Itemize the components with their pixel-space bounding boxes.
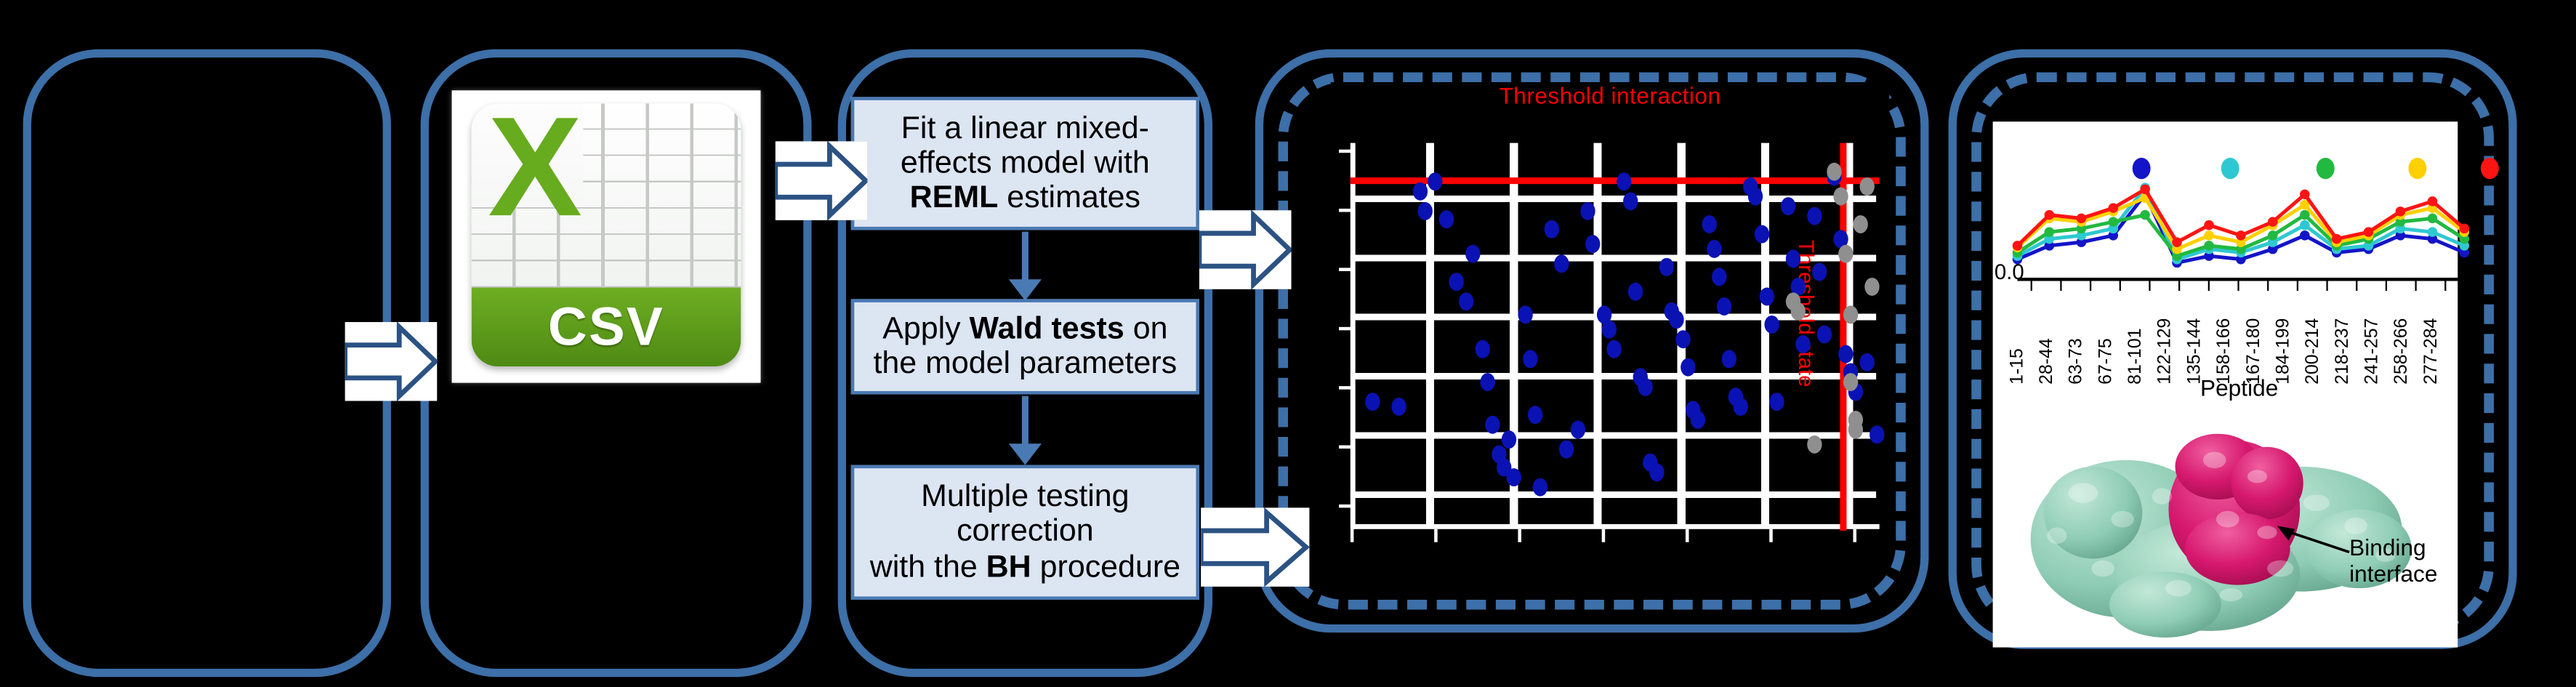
peptide-tick — [2178, 281, 2180, 291]
arrow-input-to-csv — [345, 322, 438, 401]
peptide-tick — [2031, 281, 2032, 291]
line-series-marker — [2300, 220, 2310, 230]
legend-marker — [2408, 158, 2426, 179]
line-series-marker — [2045, 210, 2055, 220]
peptide-tick-labels: 1-1528-4463-7367-7581-101122-129135-1441… — [2018, 283, 2461, 385]
binding-annot-line1: Binding — [2349, 536, 2490, 561]
scatter-y-tick — [1339, 386, 1352, 390]
line-series-marker — [2428, 196, 2438, 206]
scatter-point — [1554, 254, 1569, 272]
step3-line1: Multiple testing — [921, 480, 1129, 514]
step-box-bh[interactable]: Multiple testing correction with the BH … — [851, 465, 1199, 600]
line-series-marker — [2396, 206, 2406, 217]
scatter-x-tick — [1602, 529, 1606, 542]
line-series-marker — [2268, 217, 2278, 227]
scatter-point — [1681, 358, 1695, 377]
scatter-point — [1622, 192, 1637, 210]
scatter-point — [1817, 326, 1832, 344]
scatter-point — [1812, 263, 1827, 281]
scatter-point — [1649, 464, 1663, 482]
step2-line2: the model parameters — [873, 347, 1177, 381]
line-series-marker — [2268, 230, 2278, 241]
scatter-point — [1606, 340, 1621, 358]
scatter-point — [1864, 278, 1879, 296]
figure-canvas: X CSV Fit a linear mixed- effects model … — [0, 0, 2576, 687]
scatter-x-tick — [1518, 529, 1521, 542]
step1-bold-reml: REML — [910, 181, 999, 215]
line-series-marker — [2300, 190, 2310, 200]
scatter-point — [1707, 240, 1721, 258]
scatter-y-tick — [1339, 209, 1352, 212]
csv-card: X CSV — [472, 103, 741, 366]
scatter-y-tick — [1339, 505, 1352, 508]
scatter-point — [1869, 425, 1884, 443]
peptide-tick — [2237, 281, 2239, 291]
peptide-tick — [2444, 281, 2446, 291]
step2-suffix: on — [1124, 312, 1168, 346]
scatter-y-tick — [1339, 150, 1352, 153]
legend-marker — [2133, 158, 2151, 179]
step3-line3a: with the — [870, 550, 986, 584]
scatter-point — [1806, 435, 1821, 453]
peptide-tick — [2267, 281, 2269, 291]
line-series-marker — [2204, 230, 2214, 241]
scatter-point — [1791, 302, 1806, 320]
step-box-reml[interactable]: Fit a linear mixed- effects model with R… — [851, 97, 1199, 230]
scatter-point — [1502, 430, 1516, 449]
line-series-marker — [2204, 220, 2214, 230]
peptide-tick — [2386, 281, 2387, 291]
step1-line1: Fit a linear mixed- — [901, 111, 1149, 145]
scatter-point — [1417, 201, 1432, 220]
legend-marker — [2221, 158, 2239, 179]
line-series-marker — [2204, 241, 2214, 251]
peptide-axis-baseline — [2018, 278, 2465, 281]
step1-line2: effects model with — [901, 146, 1150, 180]
arrow-stats-to-scatter — [1199, 210, 1292, 289]
scatter-plot-title: Threshold interaction — [1331, 82, 1889, 108]
y-axis-zero-label: 0.0 — [1995, 260, 2024, 284]
protein-structure-image — [2008, 411, 2418, 640]
protein-surface-svg — [2008, 411, 2418, 640]
scatter-point — [1476, 340, 1490, 358]
scatter-point — [1365, 392, 1380, 410]
peptide-tick — [2297, 281, 2298, 291]
line-series-marker — [2428, 214, 2438, 224]
line-series-marker — [2428, 227, 2438, 237]
scatter-x-tick — [1769, 529, 1773, 542]
line-series-marker — [2109, 203, 2119, 213]
scatter-x-tick — [1686, 529, 1689, 542]
scatter-point — [1806, 206, 1821, 225]
line-series-marker — [2140, 210, 2150, 220]
scatter-point — [1832, 187, 1847, 205]
arrow-csv-to-stats — [776, 141, 868, 220]
peptide-axis-title: Peptide — [2018, 374, 2461, 401]
scatter-point — [1675, 330, 1689, 348]
step2-bold-wald: Wald tests — [970, 312, 1124, 346]
line-series-marker — [2460, 224, 2470, 234]
scatter-point — [1780, 197, 1795, 215]
binding-interface-annotation: Binding interface — [2349, 536, 2490, 587]
scatter-point — [1754, 225, 1768, 244]
line-series-marker — [2045, 227, 2055, 237]
binding-interface-leader-line — [2277, 526, 2353, 565]
peptide-tick — [2326, 281, 2327, 291]
line-series-marker — [2077, 214, 2087, 224]
peptide-tick — [2149, 281, 2150, 291]
connector-arrow-1 — [1022, 232, 1029, 281]
step3-bold-bh: BH — [986, 550, 1031, 584]
scatter-point — [1796, 335, 1811, 353]
scatter-x-tick — [1434, 529, 1438, 542]
line-series-marker — [2013, 241, 2023, 251]
connector-arrow-2 — [1022, 396, 1029, 446]
excel-x-icon: X — [488, 103, 579, 238]
scatter-point — [1627, 283, 1642, 301]
figure-scaler: X CSV Fit a linear mixed- effects model … — [0, 0, 2576, 687]
step2-prefix: Apply — [882, 312, 969, 346]
csv-file-icon[interactable]: X CSV — [452, 90, 761, 382]
line-series-marker — [2332, 234, 2342, 244]
scatter-x-tick — [1853, 529, 1857, 542]
scatter-point — [1785, 249, 1800, 268]
binding-annot-line2: interface — [2349, 561, 2490, 587]
scatter-y-tick — [1339, 327, 1352, 331]
scatter-point — [1449, 273, 1464, 291]
scatter-x-axis — [1351, 524, 1880, 529]
scatter-point — [1412, 182, 1427, 201]
peptide-tick — [2060, 281, 2061, 291]
scatter-x-tick — [1351, 529, 1354, 542]
scatter-point — [1859, 177, 1874, 196]
scatter-point — [1580, 201, 1595, 220]
peptide-tick — [2415, 281, 2417, 291]
scatter-y-tick — [1339, 446, 1352, 449]
line-series-marker — [2236, 230, 2246, 241]
scatter-y-tick — [1339, 268, 1352, 271]
scatter-y-axis — [1351, 143, 1356, 529]
csv-band-label: CSV — [548, 296, 664, 358]
scatter-point — [1733, 397, 1747, 415]
peptide-tick — [2208, 281, 2210, 291]
csv-band: CSV — [472, 288, 741, 366]
legend-marker — [2317, 158, 2335, 179]
step-box-wald[interactable]: Apply Wald tests on the model parameters — [851, 299, 1199, 394]
line-series-marker — [2300, 230, 2310, 241]
scatter-point — [1601, 321, 1616, 339]
threshold-scatter-plot[interactable]: Threshold interaction Threshold state — [1331, 82, 1889, 542]
peptide-tick — [2120, 281, 2121, 291]
scatter-point — [1570, 421, 1585, 439]
scatter-point — [1465, 244, 1479, 262]
scatter-point — [1391, 397, 1406, 415]
step3-line2: correction — [957, 515, 1094, 549]
scatter-point — [1533, 478, 1547, 496]
line-series-marker — [2364, 227, 2374, 237]
line-series-marker — [2109, 217, 2119, 227]
input-panel[interactable] — [23, 49, 391, 677]
line-series-marker — [2140, 185, 2150, 195]
legend-marker — [2481, 158, 2499, 179]
step3-line3b: procedure — [1031, 550, 1180, 584]
scatter-point — [1759, 287, 1774, 305]
line-chart-legend — [1955, 158, 2522, 184]
step1-line3: estimates — [998, 181, 1140, 215]
scatter-point — [1838, 345, 1853, 363]
arrow-stats-to-results — [1201, 507, 1309, 586]
line-series-marker — [2172, 237, 2182, 247]
peptide-tick — [2090, 281, 2091, 291]
scatter-point — [1838, 244, 1853, 262]
peptide-tick — [2356, 281, 2357, 291]
scatter-point — [1523, 349, 1537, 367]
scatter-point — [1843, 373, 1858, 391]
